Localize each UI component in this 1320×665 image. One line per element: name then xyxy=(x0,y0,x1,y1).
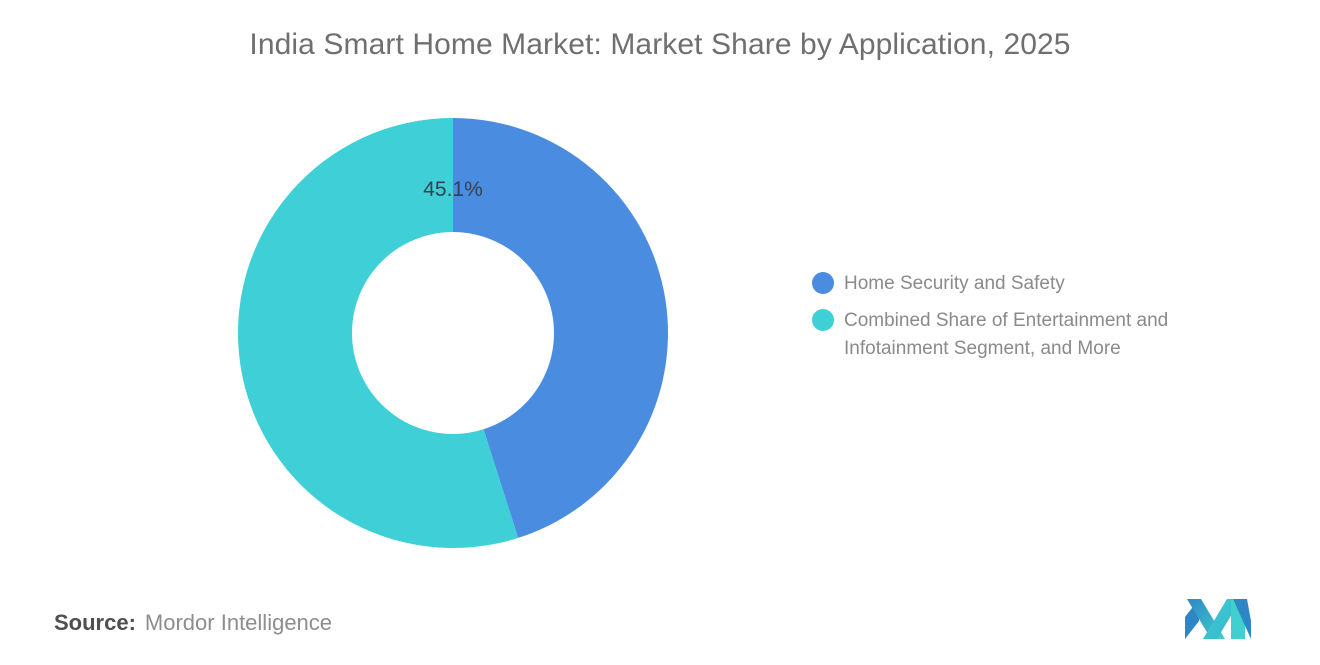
chart-page: India Smart Home Market: Market Share by… xyxy=(0,0,1320,665)
page-title: India Smart Home Market: Market Share by… xyxy=(0,28,1320,62)
donut-hole xyxy=(352,232,554,434)
donut-chart: 45.1% xyxy=(238,118,668,548)
legend-label-home-security-and-safety: Home Security and Safety xyxy=(844,270,1065,298)
legend-swatch-icon-combined-share-entertainment-infotainment xyxy=(812,309,834,331)
source-attribution: Source: Mordor Intelligence xyxy=(54,610,332,636)
source-name: Mordor Intelligence xyxy=(145,610,332,636)
chart-legend: Home Security and Safety Combined Share … xyxy=(812,270,1282,372)
mordor-intelligence-logo-icon xyxy=(1181,597,1255,641)
legend-swatch-icon-home-security-and-safety xyxy=(812,272,834,294)
legend-item-home-security-and-safety[interactable]: Home Security and Safety xyxy=(812,270,1282,298)
legend-item-combined-share-entertainment-infotainment[interactable]: Combined Share of Entertainment and Info… xyxy=(812,307,1282,363)
source-label: Source: xyxy=(54,610,136,636)
donut-chart-svg xyxy=(238,118,668,548)
logo-svg xyxy=(1181,597,1255,641)
legend-label-combined-share-entertainment-infotainment: Combined Share of Entertainment and Info… xyxy=(844,307,1244,363)
